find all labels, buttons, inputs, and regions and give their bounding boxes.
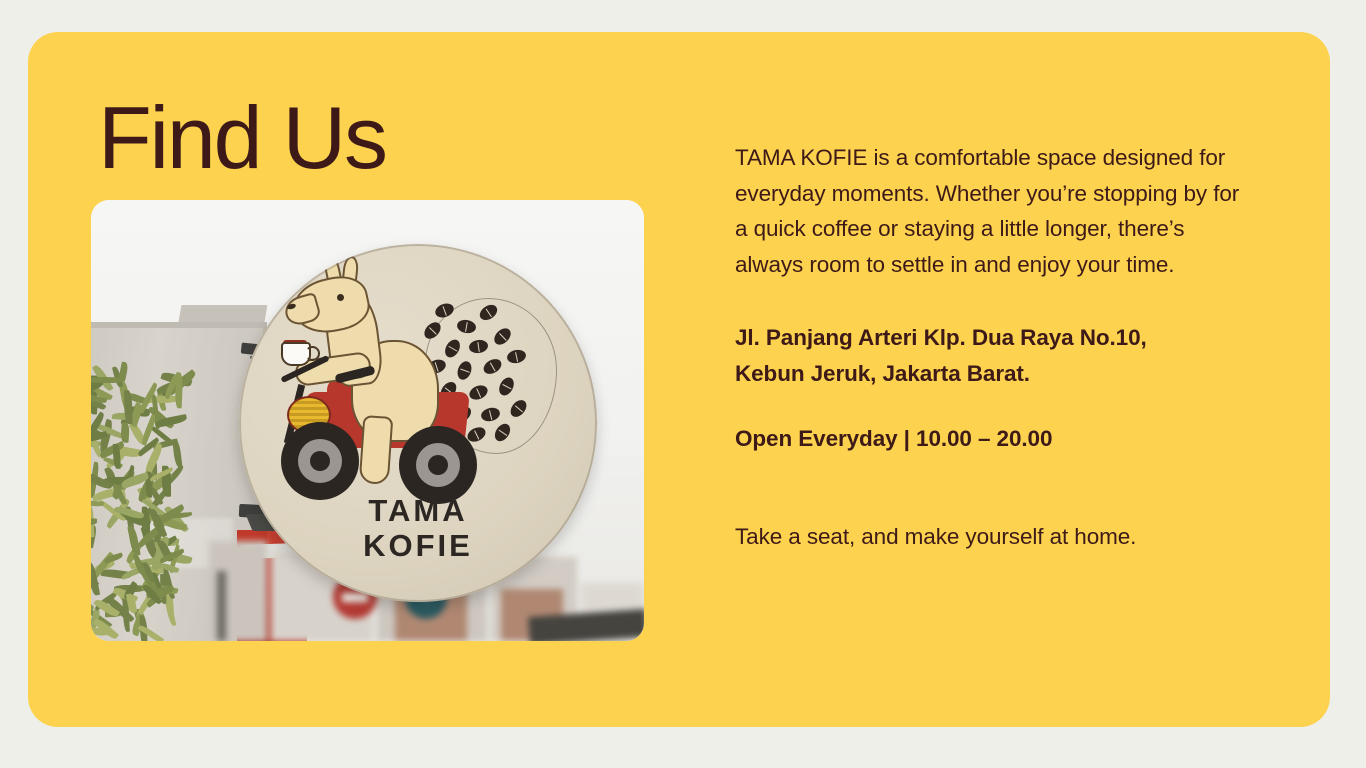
- round-cafe-sign: TAMA KOFIE: [239, 244, 597, 602]
- page-title: Find Us: [98, 94, 386, 182]
- spacer: [735, 457, 1255, 519]
- address-line-2: Kebun Jeruk, Jakarta Barat.: [735, 356, 1255, 392]
- storefront-photo: TAMA KOFIE: [91, 200, 644, 641]
- leaf: [171, 440, 182, 469]
- photo-stage: TAMA KOFIE: [91, 200, 644, 641]
- slide-card: Find Us: [28, 32, 1330, 727]
- leaf: [91, 500, 104, 507]
- closing-line: Take a seat, and make yourself at home.: [735, 519, 1255, 555]
- address-line-1: Jl. Panjang Arteri Klp. Dua Raya No.10,: [735, 320, 1255, 356]
- leaf: [91, 517, 97, 525]
- spacer: [735, 391, 1255, 421]
- leaf: [127, 525, 140, 556]
- leaf: [124, 389, 133, 424]
- intro-paragraph: TAMA KOFIE is a comfortable space design…: [735, 140, 1255, 282]
- leaf: [91, 376, 124, 383]
- plant-foliage: [91, 368, 183, 641]
- street-pole: [217, 571, 226, 641]
- sign-rim: [239, 244, 597, 602]
- spacer: [735, 282, 1255, 320]
- info-text-column: TAMA KOFIE is a comfortable space design…: [735, 140, 1255, 554]
- opening-hours: Open Everyday | 10.00 – 20.00: [735, 421, 1255, 457]
- leaf: [121, 422, 130, 442]
